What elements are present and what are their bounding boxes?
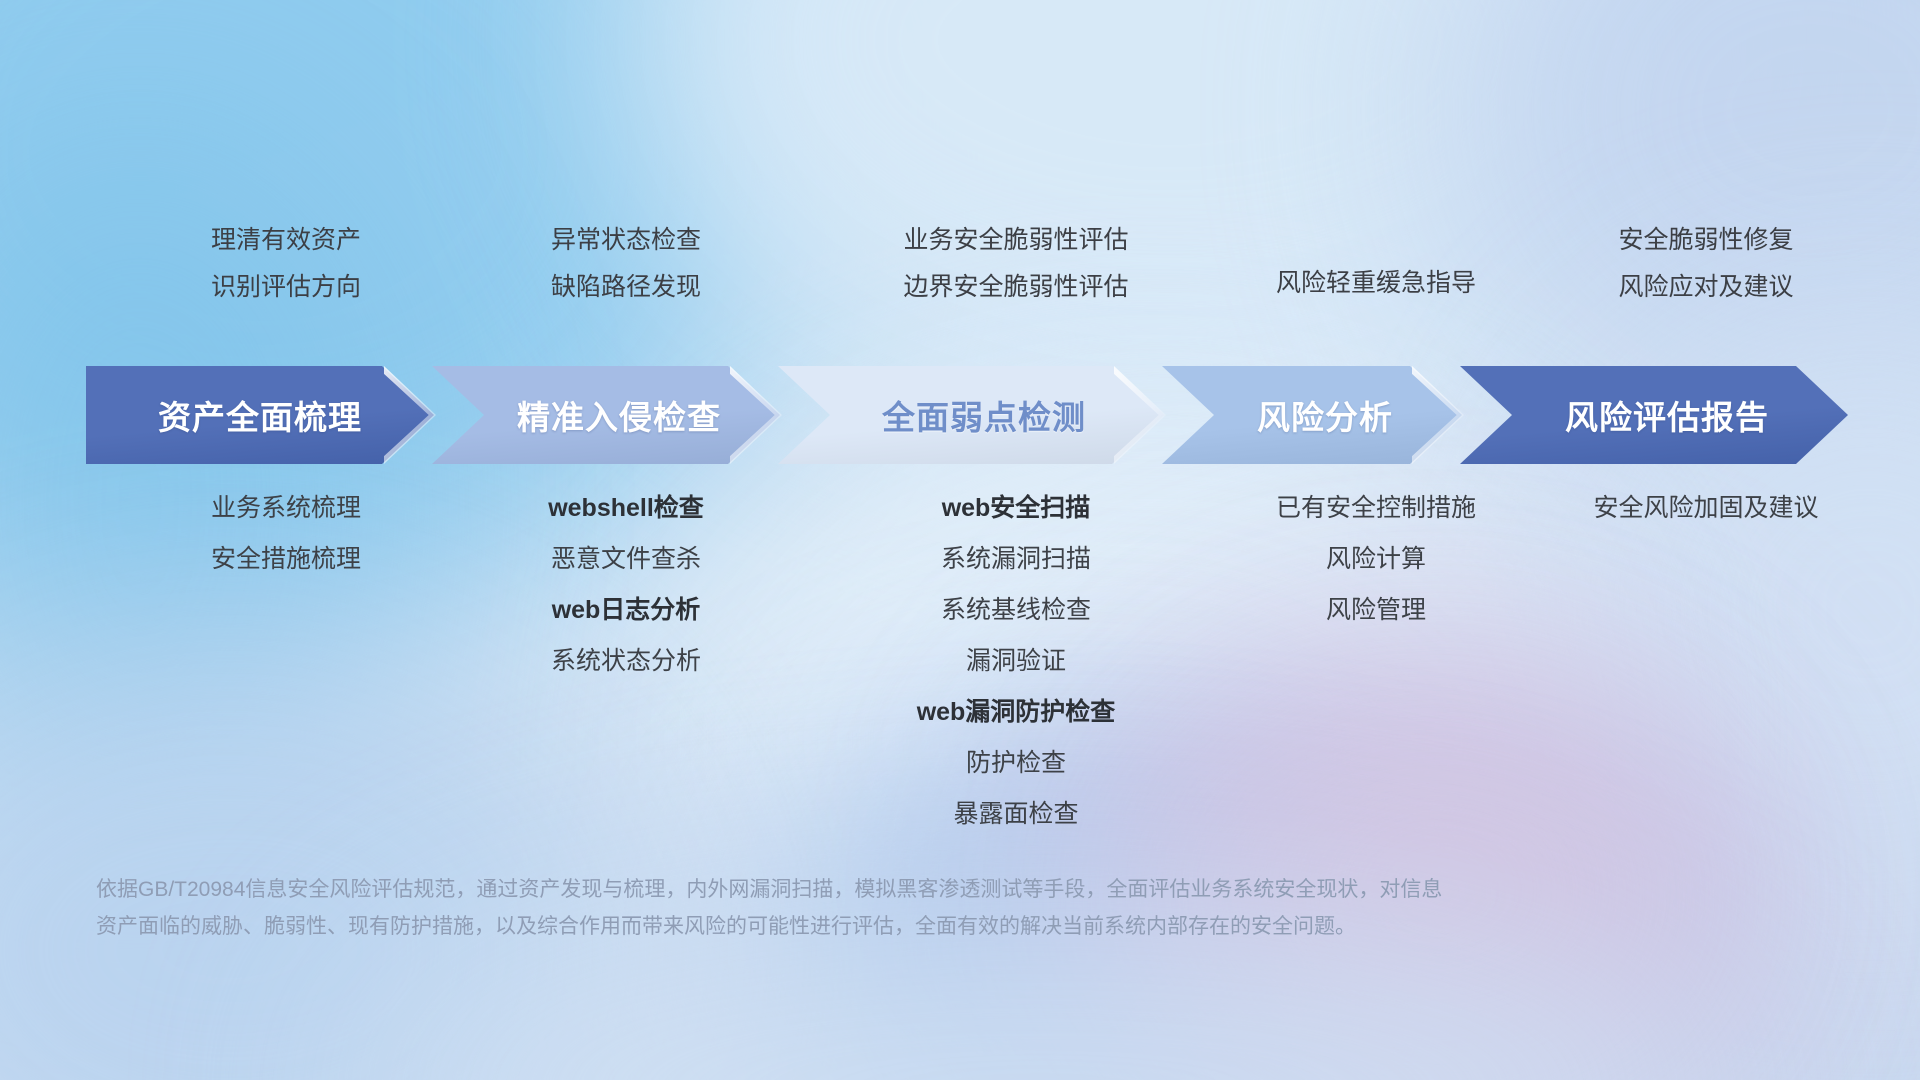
detail-list-item: 风险计算 [1326,547,1426,572]
detail-list-item: webshell检查 [548,496,704,521]
process-step-risk-report[interactable]: 风险评估报告 [1460,366,1848,464]
top-caption-group-weakness-detection: 业务安全脆弱性评估边界安全脆弱性评估 [806,228,1226,338]
detail-list-item: web漏洞防护检查 [917,700,1116,725]
process-step-label: 资产全面梳理 [158,391,362,439]
process-step-label: 全面弱点检测 [882,391,1086,439]
top-caption-item: 识别评估方向 [211,275,361,300]
top-caption-item: 异常状态检查 [551,228,701,253]
top-caption-group-risk-report: 安全脆弱性修复风险应对及建议 [1496,228,1916,338]
top-caption-item: 风险应对及建议 [1618,275,1793,300]
detail-list-item: 风险管理 [1326,598,1426,623]
process-arrow-band: 资产全面梳理精准入侵检查全面弱点检测风险分析风险评估报告 [86,366,1856,464]
top-caption-item: 理清有效资产 [211,228,361,253]
detail-list-item: 漏洞验证 [966,649,1066,674]
detail-list-item: 系统漏洞扫描 [941,547,1091,572]
detail-list-item: web安全扫描 [942,496,1091,521]
top-caption-item: 安全脆弱性修复 [1618,228,1793,253]
process-step-risk-analysis[interactable]: 风险分析 [1162,366,1462,464]
detail-list-item: 业务系统梳理 [211,496,361,521]
detail-list-item: 安全措施梳理 [211,547,361,572]
detail-list-item: 系统基线检查 [941,598,1091,623]
process-step-label: 精准入侵检查 [517,391,721,439]
process-step-asset-inventory[interactable]: 资产全面梳理 [86,366,434,464]
detail-list-item: 恶意文件查杀 [551,547,701,572]
detail-list-asset-inventory: 业务系统梳理安全措施梳理 [96,496,476,572]
top-caption-item: 风险轻重缓急指导 [1276,271,1476,296]
footer-line-2: 资产面临的威胁、脆弱性、现有防护措施，以及综合作用而带来风险的可能性进行评估，全… [96,909,1656,946]
top-caption-item: 缺陷路径发现 [551,275,701,300]
top-caption-item: 业务安全脆弱性评估 [903,228,1128,253]
detail-list-item: 安全风险加固及建议 [1593,496,1818,521]
top-caption-group-intrusion-check: 异常状态检查缺陷路径发现 [436,228,816,338]
detail-list-item: 已有安全控制措施 [1276,496,1476,521]
detail-list-weakness-detection: web安全扫描系统漏洞扫描系统基线检查漏洞验证web漏洞防护检查防护检查暴露面检… [806,496,1226,827]
detail-list-risk-report: 安全风险加固及建议 [1496,496,1916,521]
top-caption-item: 边界安全脆弱性评估 [903,275,1128,300]
top-caption-group-asset-inventory: 理清有效资产识别评估方向 [96,228,476,338]
process-step-label: 风险分析 [1257,391,1393,439]
process-step-label: 风险评估报告 [1565,391,1769,439]
detail-list-item: 防护检查 [966,751,1066,776]
process-step-intrusion-check[interactable]: 精准入侵检查 [432,366,780,464]
footer-line-1: 依据GB/T20984信息安全风险评估规范，通过资产发现与梳理，内外网漏洞扫描，… [96,872,1656,909]
detail-list-item: 系统状态分析 [551,649,701,674]
detail-list-item: web日志分析 [552,598,701,623]
footer-description: 依据GB/T20984信息安全风险评估规范，通过资产发现与梳理，内外网漏洞扫描，… [96,872,1656,946]
detail-list-item: 暴露面检查 [953,802,1078,827]
process-step-weakness-detection[interactable]: 全面弱点检测 [778,366,1164,464]
top-caption-row: 理清有效资产识别评估方向异常状态检查缺陷路径发现业务安全脆弱性评估边界安全脆弱性… [0,228,1920,338]
detail-list-intrusion-check: webshell检查恶意文件查杀web日志分析系统状态分析 [436,496,816,674]
